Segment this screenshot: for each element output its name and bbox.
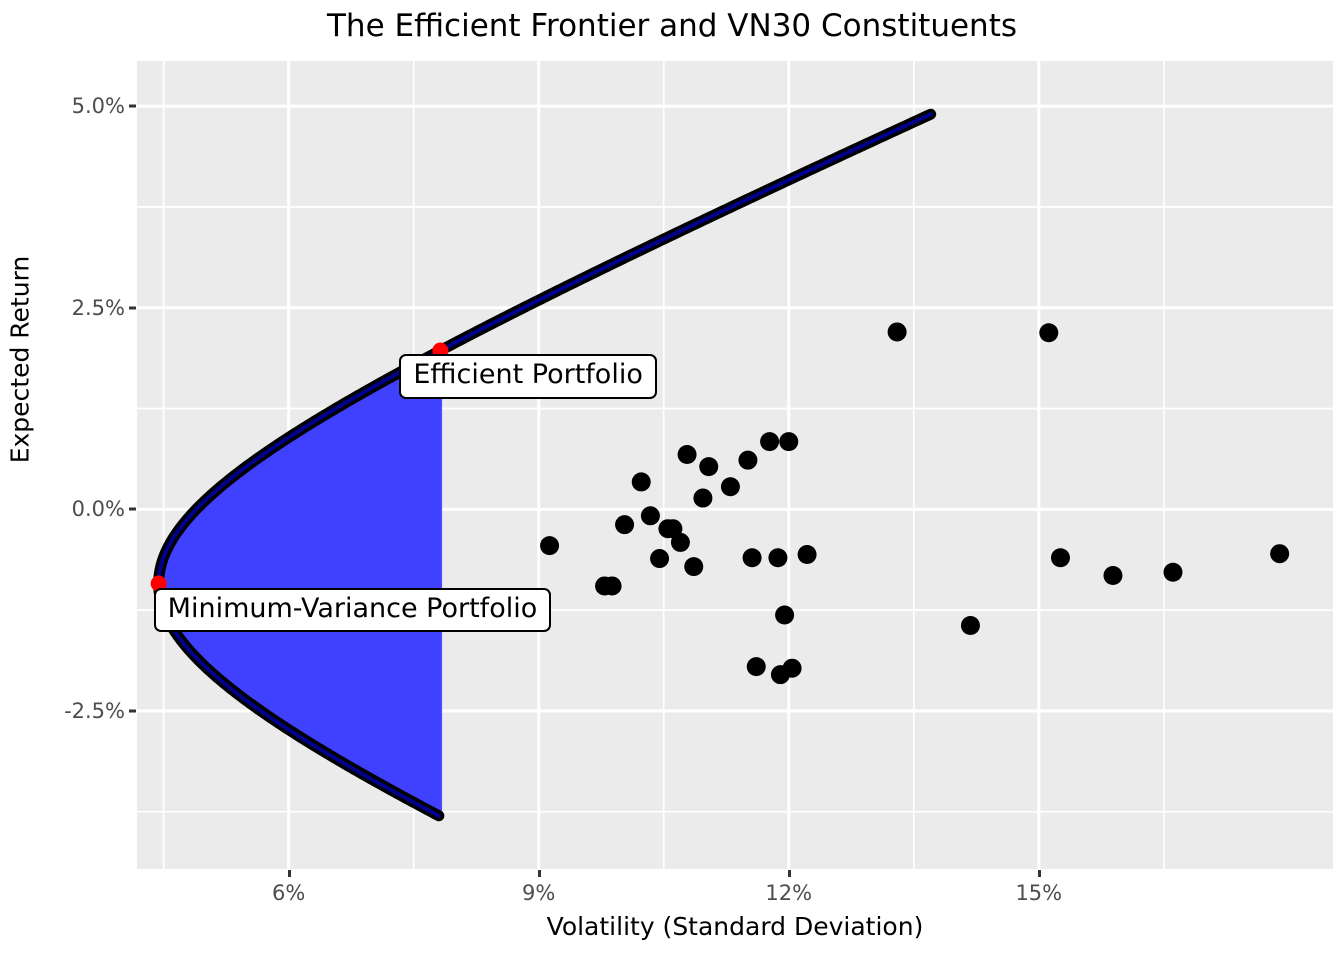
minimum-variance-portfolio-label: Minimum-Variance Portfolio [154,588,552,632]
chart-title: The Efficient Frontier and VN30 Constitu… [0,8,1344,44]
scatter-point [798,545,817,564]
scatter-point [671,533,690,552]
scatter-point [693,489,712,508]
x-axis-tick-label: 6% [229,881,349,905]
scatter-point [699,457,718,476]
x-axis-tick-mark [538,870,541,877]
plot-canvas [137,61,1333,869]
scatter-point [768,548,787,567]
scatter-point [888,322,907,341]
efficient-portfolio-label: Efficient Portfolio [399,354,656,398]
scatter-point [779,432,798,451]
y-axis-tick-label: -2.5% [5,699,125,723]
x-axis-tick-label: 9% [479,881,599,905]
scatter-point [632,472,651,491]
x-axis-tick-label: 12% [729,881,849,905]
scatter-point [721,477,740,496]
x-axis-tick-mark [1038,870,1041,877]
scatter-point [615,515,634,534]
scatter-point [738,451,757,470]
y-axis-tick-mark [129,306,136,309]
scatter-point [961,616,980,635]
plot-panel [137,61,1333,869]
chart-root: The Efficient Frontier and VN30 Constitu… [0,0,1344,960]
y-axis-tick-mark [129,105,136,108]
y-axis-tick-label: 0.0% [5,497,125,521]
y-axis-tick-label: 5.0% [5,94,125,118]
scatter-point [540,536,559,555]
scatter-point [743,548,762,567]
scatter-point [747,657,766,676]
x-axis-tick-mark [788,870,791,877]
scatter-point [1270,544,1289,563]
scatter-point [641,506,660,525]
scatter-point [760,432,779,451]
scatter-point [678,445,697,464]
scatter-point [603,576,622,595]
x-axis-tick-label: 15% [979,881,1099,905]
y-axis-tick-mark [129,709,136,712]
scatter-point [1103,566,1122,585]
scatter-point [650,549,669,568]
x-axis-tick-mark [288,870,291,877]
frontier-fill-segments [160,350,440,816]
scatter-point [783,659,802,678]
scatter-point [775,605,794,624]
scatter-point [1051,548,1070,567]
scatter-point [1163,563,1182,582]
y-axis-tick-mark [129,508,136,511]
x-axis-title: Volatility (Standard Deviation) [137,912,1333,941]
scatter-point [684,557,703,576]
scatter-point [1039,323,1058,342]
y-axis-tick-label: 2.5% [5,296,125,320]
